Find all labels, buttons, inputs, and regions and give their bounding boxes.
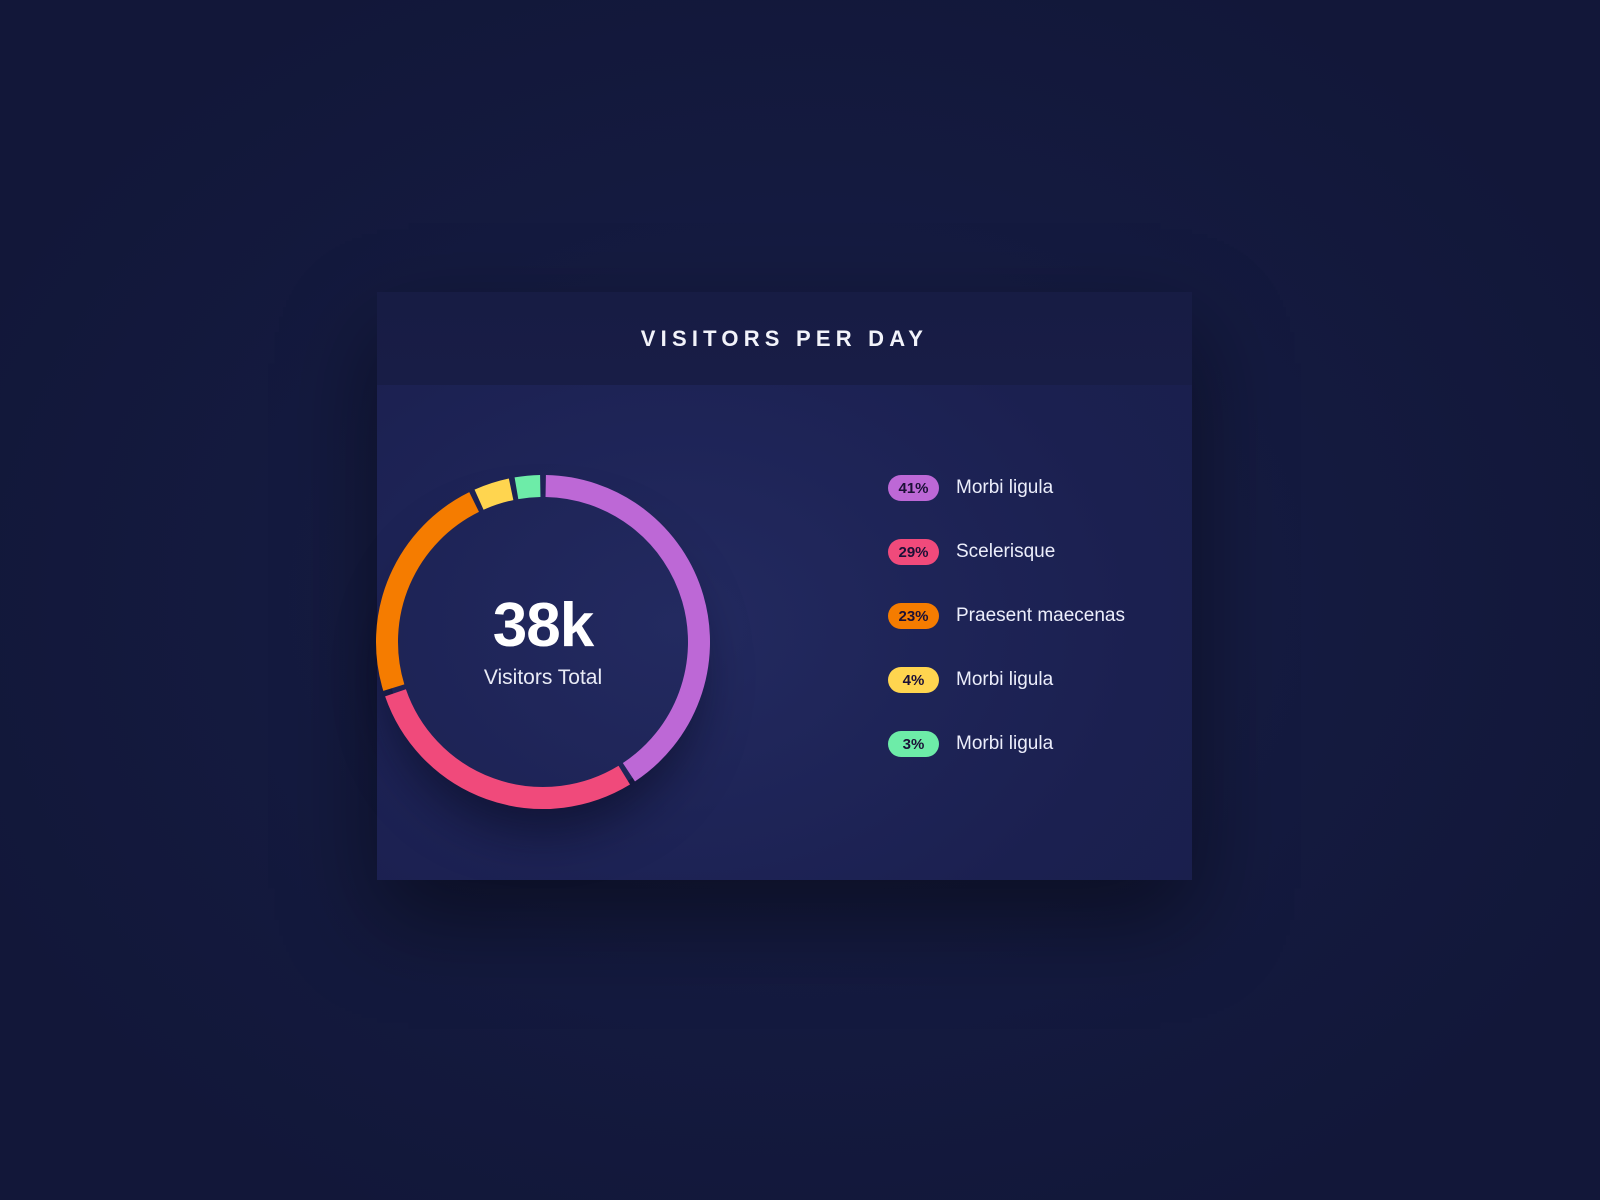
legend-item-label: Morbi ligula	[956, 669, 1053, 691]
legend-item-label: Praesent maecenas	[956, 605, 1125, 627]
visitors-card: VISITORS PER DAY 38k Visitors Total 41%M…	[377, 292, 1192, 880]
legend-item[interactable]: 3%Morbi ligula	[888, 729, 1168, 759]
page-title: VISITORS PER DAY	[641, 326, 928, 352]
legend-item[interactable]: 29%Scelerisque	[888, 537, 1168, 567]
donut-segment[interactable]	[516, 486, 540, 488]
legend-percent-badge: 29%	[888, 539, 939, 565]
screen-background: VISITORS PER DAY 38k Visitors Total 41%M…	[0, 0, 1600, 1200]
legend-item-label: Morbi ligula	[956, 477, 1053, 499]
legend-percent-badge: 41%	[888, 475, 939, 501]
legend-percent-badge: 4%	[888, 667, 939, 693]
chart-legend: 41%Morbi ligula29%Scelerisque23%Praesent…	[888, 473, 1168, 759]
card-body: 38k Visitors Total 41%Morbi ligula29%Sce…	[377, 385, 1192, 880]
donut-segment[interactable]	[387, 502, 474, 688]
legend-percent-badge: 23%	[888, 603, 939, 629]
donut-chart-svg	[373, 472, 713, 812]
legend-item[interactable]: 41%Morbi ligula	[888, 473, 1168, 503]
donut-segment[interactable]	[479, 489, 511, 499]
donut-segment[interactable]	[546, 486, 699, 772]
donut-segment[interactable]	[395, 693, 624, 798]
legend-item-label: Morbi ligula	[956, 733, 1053, 755]
legend-item-label: Scelerisque	[956, 541, 1055, 563]
card-header: VISITORS PER DAY	[377, 292, 1192, 385]
donut-chart: 38k Visitors Total	[373, 472, 713, 812]
legend-item[interactable]: 23%Praesent maecenas	[888, 601, 1168, 631]
legend-percent-badge: 3%	[888, 731, 939, 757]
legend-item[interactable]: 4%Morbi ligula	[888, 665, 1168, 695]
